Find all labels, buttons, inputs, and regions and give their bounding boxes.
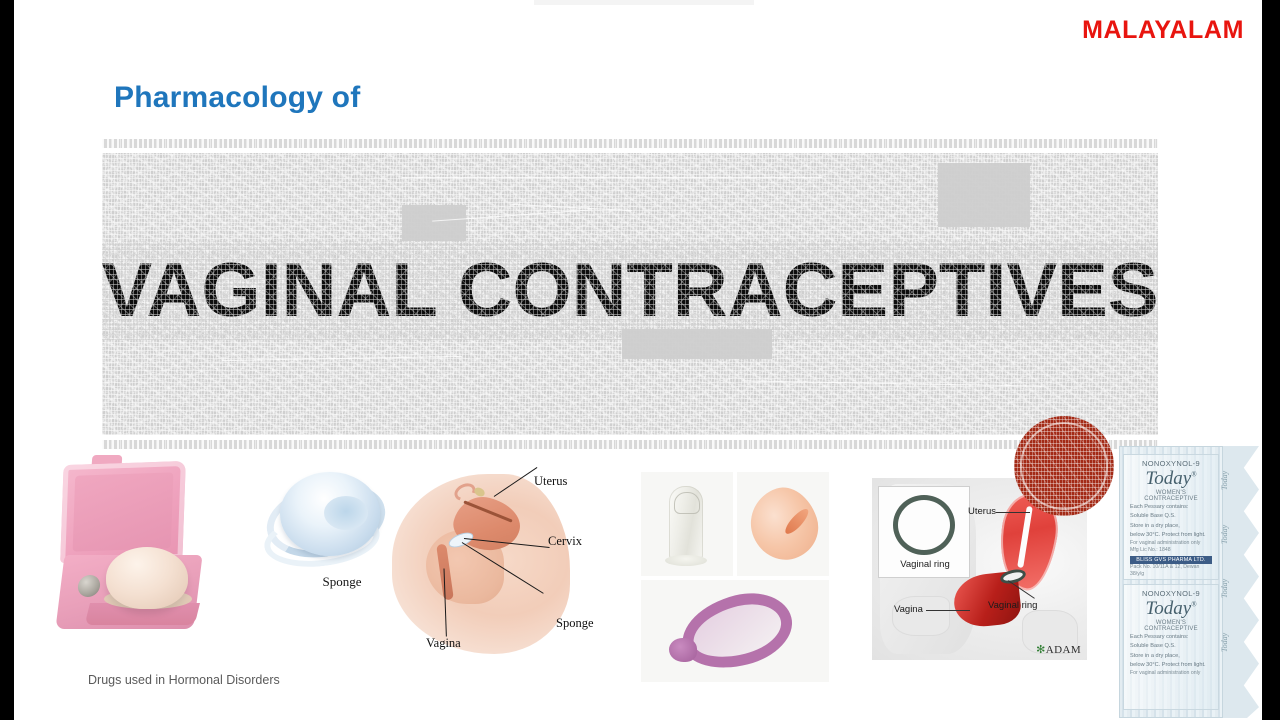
pack-address: Nasapa, Khadki, Palghar, Maharashtra - 4…	[1130, 579, 1212, 580]
product-name-top: NONOXYNOL-9	[1130, 459, 1212, 468]
case-lid-inner	[73, 472, 174, 551]
brand-name-text: Today	[1145, 468, 1191, 489]
registered-mark: ®	[1191, 471, 1196, 479]
ring-label-uterus: Uterus	[968, 506, 996, 517]
banner-title-container: VAGINAL CONTRACEPTIVES	[102, 153, 1158, 435]
vaginal-ring-icon	[893, 495, 955, 555]
condom-panel-purple	[641, 580, 829, 682]
diaphragm-dome	[106, 547, 188, 609]
pack-line: Mfg Lic No.: 1848	[1130, 547, 1212, 554]
language-tag: MALAYALAM	[1082, 16, 1244, 45]
condom-purple-knot	[669, 638, 697, 662]
brand-name: Today®	[1130, 469, 1212, 488]
ring-diagram-bone-detail	[892, 596, 950, 636]
manufacturer-strip: BLISS GVS PHARMA LTD.	[1130, 556, 1212, 564]
pack-line: Store in a dry place,	[1130, 652, 1212, 660]
ring-inset-box: Vaginal ring	[878, 486, 970, 578]
banner-strip-top	[102, 139, 1158, 148]
sponge-disc-core	[324, 496, 368, 530]
condom-sheath	[669, 486, 703, 562]
adam-watermark: ✻ADAM	[1036, 643, 1081, 656]
condom-outer-ring	[665, 555, 707, 566]
label-cervix: Cervix	[548, 534, 582, 549]
registered-mark: ®	[1191, 601, 1196, 609]
adam-leaf-icon: ✻	[1036, 644, 1046, 656]
slide-root: MALAYALAM Pharmacology of VAGINAL CONTRA…	[0, 0, 1280, 720]
sponge-disc	[280, 472, 380, 556]
blister-cell: NONOXYNOL-9 Today® WOMEN'S CONTRACEPTIVE…	[1123, 584, 1219, 710]
pack-line: For vaginal administration only	[1130, 540, 1212, 547]
page-title: VAGINAL CONTRACEPTIVES	[102, 247, 1158, 334]
blister-foil-body: NONOXYNOL-9 Today® WOMEN'S CONTRACEPTIVE…	[1119, 446, 1223, 718]
condom-panel-flesh	[737, 472, 829, 576]
adam-watermark-text: ADAM	[1046, 644, 1081, 656]
product-subtitle: WOMEN'S CONTRACEPTIVE	[1130, 620, 1212, 632]
banner-strip-bottom	[102, 440, 1158, 449]
pack-line: below 30°C. Protect from light.	[1130, 531, 1212, 539]
blister-cell: NONOXYNOL-9 Today® WOMEN'S CONTRACEPTIVE…	[1123, 454, 1219, 580]
title-banner: VAGINAL CONTRACEPTIVES	[102, 139, 1158, 449]
pack-line: below 30°C. Protect from light.	[1130, 661, 1212, 669]
pack-line: Each Pessary contains:	[1130, 503, 1212, 511]
banner-body: VAGINAL CONTRACEPTIVES	[102, 153, 1158, 435]
brand-name: Today®	[1130, 599, 1212, 618]
condom-purple-ring	[674, 583, 800, 678]
figure-today-blister-pack: NONOXYNOL-9 Today® WOMEN'S CONTRACEPTIVE…	[1119, 446, 1259, 718]
red-circle-texture	[1014, 416, 1114, 516]
product-subtitle: WOMEN'S CONTRACEPTIVE	[1130, 490, 1212, 502]
leader-line-ring-vagina	[926, 610, 970, 611]
pack-line: Store in a dry place,	[1130, 522, 1212, 530]
pelvic-anatomy-illustration: Uterus Cervix Sponge Vagina	[382, 466, 602, 656]
pack-line: For vaginal administration only	[1130, 670, 1212, 677]
red-grunge-circle	[1014, 416, 1114, 516]
ring-label-vagina: Vagina	[894, 604, 923, 615]
sponge-caption: Sponge	[302, 574, 382, 590]
condom-panel-sheath	[641, 472, 733, 576]
figure-female-condoms	[641, 472, 829, 682]
label-uterus: Uterus	[534, 474, 567, 489]
product-name-top: NONOXYNOL-9	[1130, 589, 1212, 598]
label-vagina: Vagina	[426, 636, 461, 651]
top-sliver-decoration	[534, 0, 754, 5]
ring-label-vaginal-ring: Vaginal ring	[988, 600, 1037, 611]
case-lid	[60, 461, 186, 563]
brand-name-text: Today	[1145, 598, 1191, 619]
condom-flesh-tone	[741, 480, 826, 569]
ring-inset-caption: Vaginal ring	[879, 559, 971, 570]
condom-opening	[782, 506, 812, 537]
figure-diaphragm-case	[40, 455, 220, 655]
blister-side-brand: Today	[1220, 471, 1229, 490]
slide-footer: Drugs used in Hormonal Disorders	[88, 673, 280, 687]
blister-side-brand: Today	[1220, 633, 1229, 652]
label-sponge-in-body: Sponge	[556, 616, 594, 631]
page-kicker: Pharmacology of	[114, 81, 360, 115]
pack-line: Each Pessary contains:	[1130, 633, 1212, 641]
pack-line: Soluble Base Q.S.	[1130, 642, 1212, 650]
blister-side-brand: Today	[1220, 525, 1229, 544]
pack-number: Pack No. 10/11A & 12, Dewan 38/y/g	[1130, 564, 1212, 579]
blister-side-brand: Today	[1220, 579, 1229, 598]
pack-line: Soluble Base Q.S.	[1130, 512, 1212, 520]
figure-contraceptive-sponge: Sponge Uterus Cervix Sponge Vagina	[262, 466, 602, 656]
slide-canvas: MALAYALAM Pharmacology of VAGINAL CONTRA…	[14, 0, 1262, 720]
